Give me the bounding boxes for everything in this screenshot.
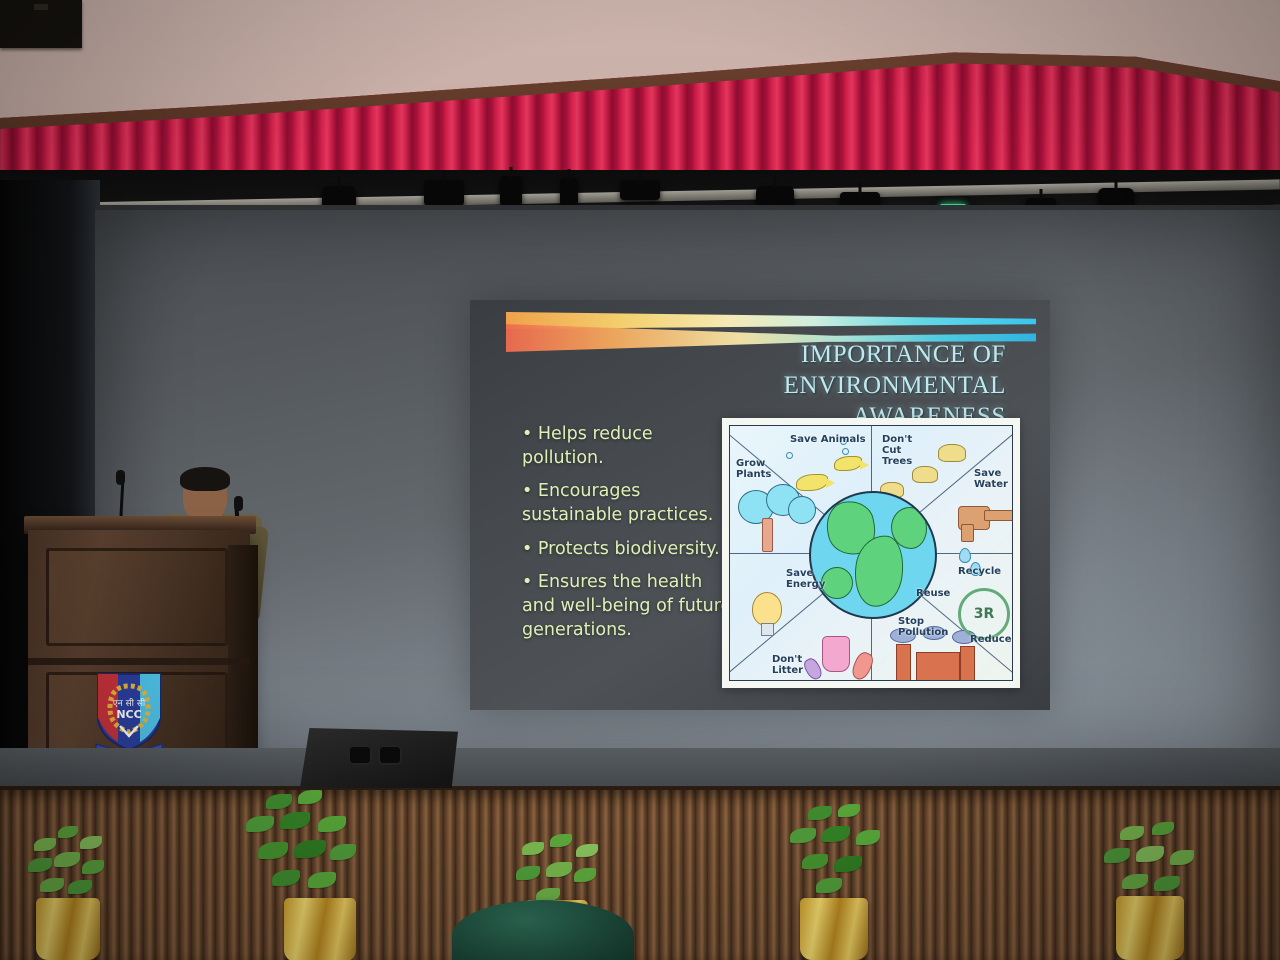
poster-label-reduce: Reduce xyxy=(970,634,1011,645)
microphone-capsule-icon xyxy=(116,470,125,485)
tree-stump-icon xyxy=(912,466,938,483)
factory-icon xyxy=(916,652,960,681)
panel-sheen xyxy=(34,4,48,10)
bullet-item: • Protects biodiversity. xyxy=(522,537,732,561)
poster-label-dont-litter: Don't Litter xyxy=(772,654,812,676)
speaker-port-icon xyxy=(378,745,402,765)
poster-label-save-water: Save Water xyxy=(974,468,1013,490)
litter-cup-icon xyxy=(822,636,850,672)
poster-label-stop-pollution: Stop Pollution xyxy=(898,616,944,638)
stage-light-icon xyxy=(620,180,660,200)
tap-spout-icon xyxy=(961,524,974,542)
bubble-icon xyxy=(786,452,793,459)
poster-label-recycle: Recycle xyxy=(958,566,1001,577)
podium-upper-panel xyxy=(46,548,228,646)
poster-label-save-energy: Save Energy xyxy=(786,568,828,590)
emblem-latin-text: NCC xyxy=(116,708,141,721)
speaker-hair xyxy=(180,467,230,491)
potted-plant-foliage xyxy=(782,802,902,908)
fish-icon xyxy=(796,474,828,491)
podium-divider xyxy=(28,658,250,665)
tree-trunk-icon xyxy=(762,518,773,552)
poster-label-save-animals: Save Animals xyxy=(790,434,866,445)
projected-slide: IMPORTANCE OF ENVIRONMENTAL AWARENESS • … xyxy=(470,300,1050,710)
bullet-item: • Ensures the health and well-being of f… xyxy=(522,570,732,642)
stage-light-icon xyxy=(560,178,578,206)
brass-planter xyxy=(800,898,868,960)
tap-pipe-icon xyxy=(984,510,1013,521)
environment-poster: Save Animals Grow Plants Don't Cut Trees xyxy=(722,418,1020,688)
bullet-item: • Helps reduce pollution. xyxy=(522,422,732,470)
stage-light-icon xyxy=(500,176,522,206)
speaker-port-icon xyxy=(348,745,372,765)
poster-label-grow-plants: Grow Plants xyxy=(736,458,778,480)
tree-stump-icon xyxy=(938,444,966,462)
tree-icon xyxy=(788,496,816,524)
poster-label-dont-cut-trees: Don't Cut Trees xyxy=(882,434,930,468)
ncc-emblem: एन सी सी NCC xyxy=(92,668,166,754)
microphone-capsule-icon xyxy=(234,496,243,511)
slide-bullet-list: • Helps reduce pollution. • Encourages s… xyxy=(522,422,732,651)
brass-planter xyxy=(284,898,356,960)
fish-icon xyxy=(834,456,862,471)
poster-artwork: Save Animals Grow Plants Don't Cut Trees xyxy=(729,425,1013,681)
auditorium-scene: IMPORTANCE OF ENVIRONMENTAL AWARENESS • … xyxy=(0,0,1280,960)
slide-title-line-2: ENVIRONMENTAL xyxy=(676,371,1006,402)
slide-title-line-1: IMPORTANCE OF xyxy=(676,340,1006,371)
stage-light-icon xyxy=(424,180,464,206)
brass-planter xyxy=(36,898,100,960)
light-bulb-icon xyxy=(752,592,782,626)
factory-chimney-icon xyxy=(960,646,975,681)
earth-globe-icon xyxy=(809,491,937,619)
brass-planter xyxy=(1116,896,1184,960)
stage-apron-wood-slats xyxy=(0,790,1280,960)
bulb-base-icon xyxy=(761,623,774,636)
potted-plant-foliage xyxy=(236,790,386,910)
bubble-icon xyxy=(842,448,849,455)
poster-label-reuse: Reuse xyxy=(916,588,950,599)
stage-monitor-speaker xyxy=(300,728,458,788)
screen-top-edge xyxy=(95,205,1280,210)
water-drop-icon xyxy=(959,548,971,563)
recycle-badge-icon: 3R xyxy=(958,588,1010,640)
factory-chimney-icon xyxy=(896,644,911,681)
ncc-shield-icon: एन सी सी NCC xyxy=(92,668,166,754)
bullet-item: • Encourages sustainable practices. xyxy=(522,479,732,527)
